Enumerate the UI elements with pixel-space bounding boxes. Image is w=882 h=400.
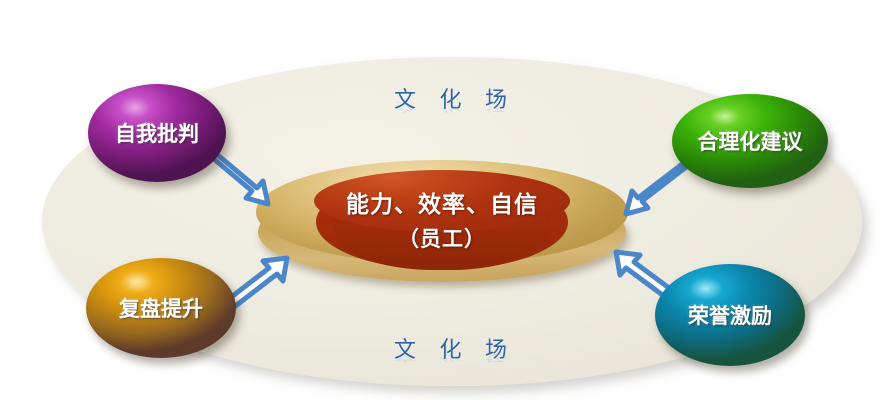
node-review[interactable]: 复盘提升: [86, 258, 236, 358]
culture-field-label-top-reflection: 文 化 场: [345, 98, 565, 116]
node-honor[interactable]: 荣誉激励: [655, 264, 805, 366]
node-suggestion-label: 合理化建议: [698, 126, 803, 156]
node-suggestion[interactable]: 合理化建议: [672, 94, 828, 188]
diagram-canvas: 文 化 场 文 化 场 文 化 场 文 化 场 能力、效率、自信 （员工） 自我…: [0, 0, 882, 400]
culture-field-label-bottom: 文 化 场 文 化 场: [345, 332, 565, 398]
node-self-critique-label: 自我批判: [115, 118, 199, 148]
culture-field-label-top: 文 化 场 文 化 场: [345, 82, 565, 148]
node-honor-label: 荣誉激励: [688, 300, 772, 330]
bowl-inner-opening: [314, 170, 570, 232]
node-self-critique[interactable]: 自我批判: [88, 84, 226, 182]
center-bowl: 能力、效率、自信 （员工）: [256, 160, 628, 282]
node-review-label: 复盘提升: [119, 293, 203, 323]
culture-field-label-bottom-reflection: 文 化 场: [345, 348, 565, 366]
